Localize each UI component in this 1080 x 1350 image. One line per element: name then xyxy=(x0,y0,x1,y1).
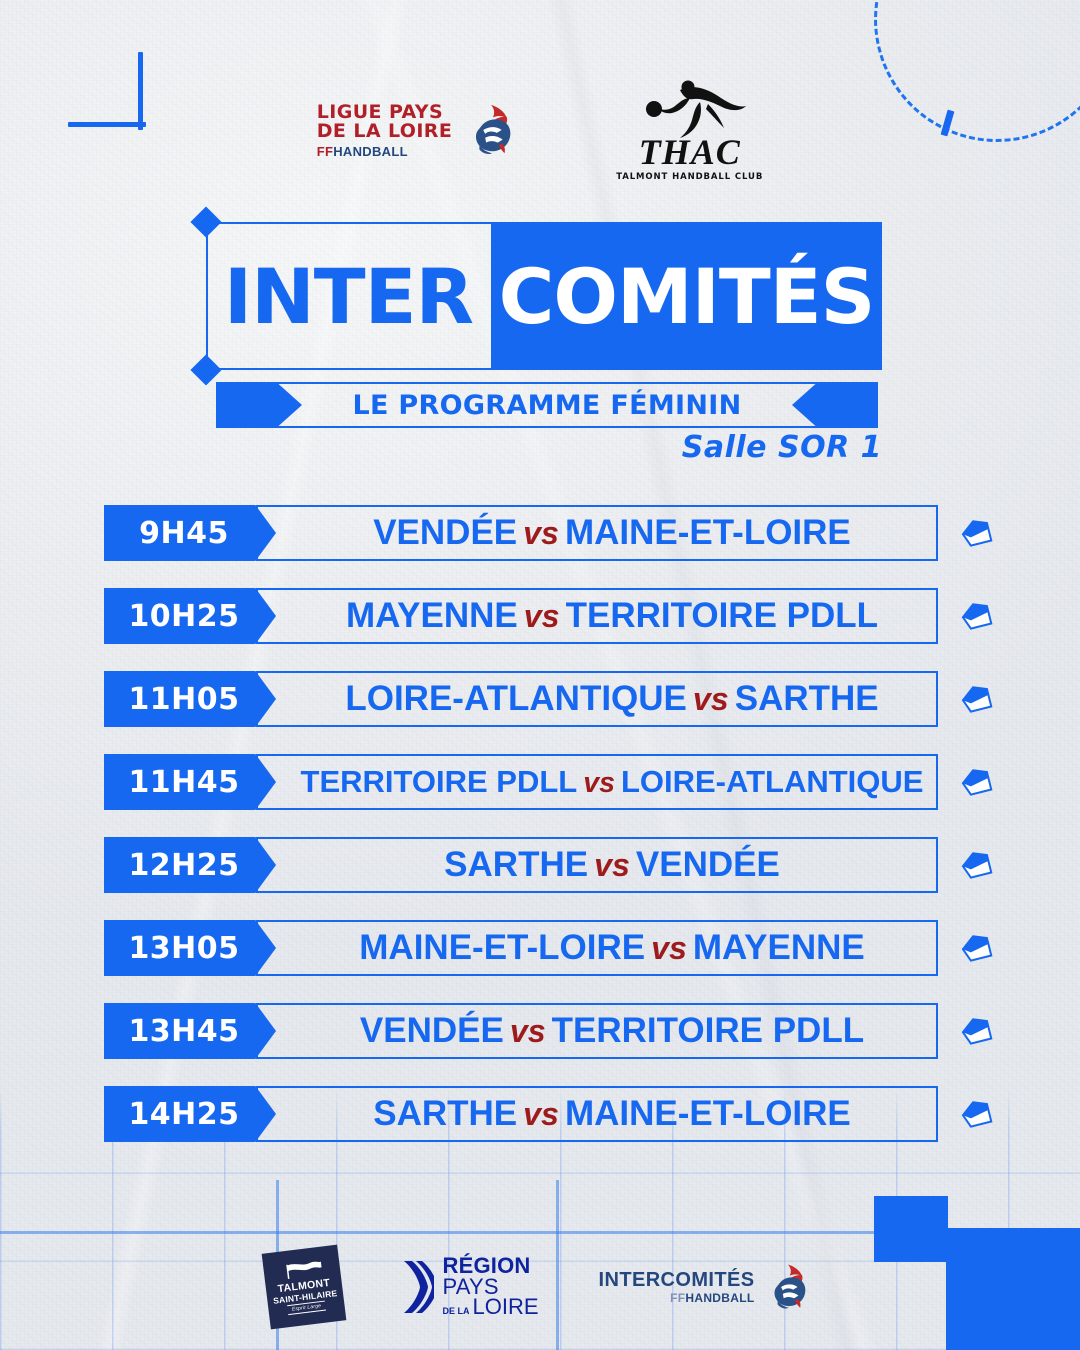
match-vs-label: vs xyxy=(577,767,621,799)
match-vs-label: vs xyxy=(517,515,565,551)
match-home-team: MAYENNE xyxy=(346,596,518,635)
intercomites-handball: HANDBALL xyxy=(685,1291,754,1305)
match-row: 14H25SARTHEvsMAINE-ET-LOIRE xyxy=(104,1086,994,1142)
match-away-team: LOIRE-ATLANTIQUE xyxy=(621,764,924,799)
match-vs-label: vs xyxy=(588,847,636,883)
header-logos: LIGUE PAYS DE LA LOIRE FFHANDBALL xyxy=(0,78,1080,182)
pentagon-marker-icon xyxy=(958,681,994,717)
pentagon-marker-icon xyxy=(958,764,994,800)
region-line3: LOIRE xyxy=(473,1297,539,1318)
match-time: 11H05 xyxy=(128,682,251,717)
match-home-team: SARTHE xyxy=(444,845,588,884)
programme-banner: LE PROGRAMME FÉMININ xyxy=(216,382,878,428)
match-row: 13H45VENDÉEvsTERRITOIRE PDLL xyxy=(104,1003,994,1059)
match-row: 10H25MAYENNEvsTERRITOIRE PDLL xyxy=(104,588,994,644)
match-fixture-box: SARTHEvsVENDÉE xyxy=(256,837,938,893)
talmont-handball-club-logo: THAC TALMONT HANDBALL CLUB xyxy=(616,78,763,182)
match-away-team: TERRITOIRE PDLL xyxy=(552,1011,864,1050)
footer-logos: TALMONT SAINT-HILAIRE Esprit Large RÉGIO… xyxy=(0,1248,1080,1326)
match-home-team: VENDÉE xyxy=(373,513,517,552)
match-row: 13H05MAINE-ET-LOIREvsMAYENNE xyxy=(104,920,994,976)
match-fixture-box: TERRITOIRE PDLLvsLOIRE-ATLANTIQUE xyxy=(256,754,938,810)
match-vs-label: vs xyxy=(645,930,693,966)
intercomites-line1: INTERCOMITÉS xyxy=(599,1270,755,1290)
double-chevron-icon xyxy=(402,1259,434,1315)
match-fixture-box: LOIRE-ATLANTIQUEvsSARTHE xyxy=(256,671,938,727)
match-home-team: LOIRE-ATLANTIQUE xyxy=(345,679,687,718)
match-time-badge: 10H25 xyxy=(104,588,276,644)
title-inter: INTER xyxy=(206,252,491,341)
match-time: 13H45 xyxy=(128,1014,251,1049)
talmont-saint-hilaire-logo: TALMONT SAINT-HILAIRE Esprit Large xyxy=(261,1245,346,1330)
ligue-logo-handball: HANDBALL xyxy=(333,144,408,159)
ligue-logo-ff: FF xyxy=(317,144,333,159)
match-schedule-list: 9H45VENDÉEvsMAINE-ET-LOIRE10H25MAYENNEvs… xyxy=(104,505,994,1169)
french-rooster-icon xyxy=(462,101,520,159)
match-time-badge: 13H05 xyxy=(104,920,276,976)
match-vs-label: vs xyxy=(504,1013,552,1049)
title-comites: COMITÉS xyxy=(491,252,882,341)
club-logo-subtitle: TALMONT HANDBALL CLUB xyxy=(616,172,763,182)
match-away-team: MAINE-ET-LOIRE xyxy=(565,1094,851,1133)
pentagon-marker-icon xyxy=(958,847,994,883)
match-vs-label: vs xyxy=(517,1096,565,1132)
match-time-badge: 11H45 xyxy=(104,754,276,810)
french-rooster-icon xyxy=(762,1261,814,1313)
region-pays-de-la-loire-logo: RÉGION PAYS DE LA LOIRE xyxy=(402,1256,539,1319)
pentagon-marker-icon xyxy=(958,1096,994,1132)
intercomites-ffhandball-logo: INTERCOMITÉS FFHANDBALL xyxy=(599,1261,815,1313)
ligue-logo-line2: DE LA LOIRE xyxy=(317,122,452,141)
intercomites-ff: FF xyxy=(670,1291,685,1305)
pentagon-marker-icon xyxy=(958,930,994,966)
poster-canvas: LIGUE PAYS DE LA LOIRE FFHANDBALL xyxy=(0,0,1080,1350)
match-time: 11H45 xyxy=(128,765,251,800)
match-vs-label: vs xyxy=(687,681,735,717)
banner-label: LE PROGRAMME FÉMININ xyxy=(218,384,876,426)
match-row: 12H25SARTHEvsVENDÉE xyxy=(104,837,994,893)
match-home-team: VENDÉE xyxy=(360,1011,504,1050)
handball-player-silhouette-icon xyxy=(630,78,750,140)
match-away-team: SARTHE xyxy=(735,679,879,718)
match-fixture-box: VENDÉEvsTERRITOIRE PDLL xyxy=(256,1003,938,1059)
match-row: 9H45VENDÉEvsMAINE-ET-LOIRE xyxy=(104,505,994,561)
match-fixture-box: VENDÉEvsMAINE-ET-LOIRE xyxy=(256,505,938,561)
venue-label: Salle SOR 1 xyxy=(682,430,882,465)
match-row: 11H45TERRITOIRE PDLLvsLOIRE-ATLANTIQUE xyxy=(104,754,994,810)
match-away-team: VENDÉE xyxy=(636,845,780,884)
ligue-logo-line1: LIGUE PAYS xyxy=(317,103,443,122)
match-time-badge: 12H25 xyxy=(104,837,276,893)
match-away-team: MAYENNE xyxy=(693,928,865,967)
match-time-badge: 14H25 xyxy=(104,1086,276,1142)
match-fixture-box: MAINE-ET-LOIREvsMAYENNE xyxy=(256,920,938,976)
match-fixture-box: MAYENNEvsTERRITOIRE PDLL xyxy=(256,588,938,644)
match-time: 13H05 xyxy=(128,931,251,966)
match-time-badge: 9H45 xyxy=(104,505,276,561)
pentagon-marker-icon xyxy=(958,1013,994,1049)
match-time: 9H45 xyxy=(139,516,241,551)
pentagon-marker-icon xyxy=(958,515,994,551)
match-time-badge: 13H45 xyxy=(104,1003,276,1059)
match-vs-label: vs xyxy=(518,598,566,634)
match-time: 12H25 xyxy=(128,848,251,883)
pentagon-marker-icon xyxy=(958,598,994,634)
poster-title: INTER COMITÉS xyxy=(206,222,882,370)
match-time: 10H25 xyxy=(128,599,251,634)
match-home-team: SARTHE xyxy=(373,1094,517,1133)
region-line3-small: DE LA xyxy=(443,1305,470,1319)
match-time-badge: 11H05 xyxy=(104,671,276,727)
match-away-team: TERRITOIRE PDLL xyxy=(566,596,878,635)
match-time: 14H25 xyxy=(128,1097,251,1132)
match-away-team: MAINE-ET-LOIRE xyxy=(565,513,851,552)
match-home-team: TERRITOIRE PDLL xyxy=(301,764,578,799)
ligue-pays-de-la-loire-logo: LIGUE PAYS DE LA LOIRE FFHANDBALL xyxy=(317,101,520,159)
match-fixture-box: SARTHEvsMAINE-ET-LOIRE xyxy=(256,1086,938,1142)
match-home-team: MAINE-ET-LOIRE xyxy=(359,928,645,967)
match-row: 11H05LOIRE-ATLANTIQUEvsSARTHE xyxy=(104,671,994,727)
